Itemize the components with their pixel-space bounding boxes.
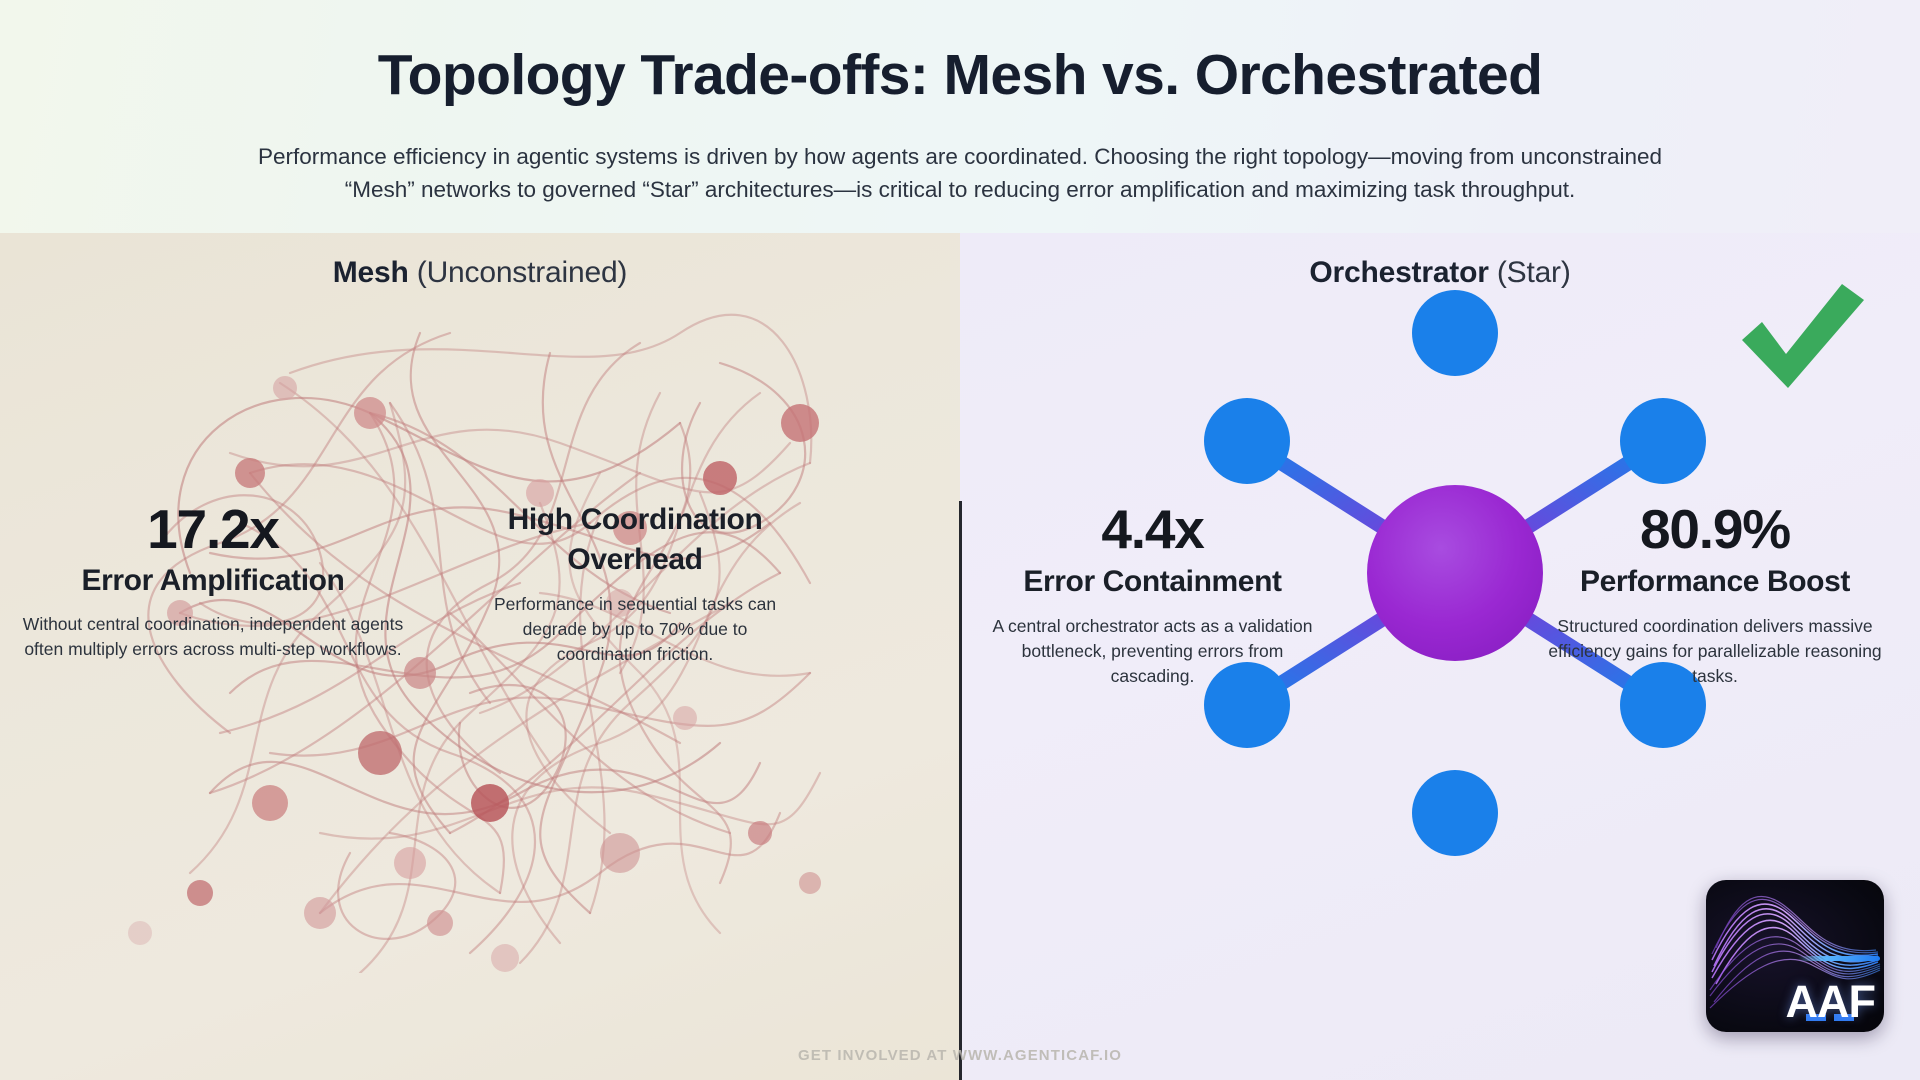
stat-label: Error Amplification <box>18 562 408 600</box>
stat-label: Error Containment <box>985 562 1320 602</box>
stat-label: High Coordination Overhead <box>485 500 785 580</box>
aaf-logo-text: AAF <box>1786 979 1875 1024</box>
stat-value: 80.9% <box>1545 498 1885 560</box>
infographic-canvas: Topology Trade-offs: Mesh vs. Orchestrat… <box>0 0 1920 1080</box>
stat-error-amplification: 17.2x Error Amplification Without centra… <box>18 498 408 662</box>
stat-coordination-overhead: High Coordination Overhead Performance i… <box>485 498 785 667</box>
stat-description: Performance in sequential tasks can degr… <box>485 592 785 667</box>
stat-label: Performance Boost <box>1545 562 1885 602</box>
comparison-panels: Mesh (Unconstrained) <box>0 233 1920 1080</box>
page-subtitle: Performance efficiency in agentic system… <box>80 140 1840 206</box>
subtitle-line-2: “Mesh” networks to governed “Star” archi… <box>80 173 1840 206</box>
stat-description: A central orchestrator acts as a validat… <box>985 614 1320 689</box>
stat-value: 4.4x <box>985 498 1320 560</box>
mesh-panel: Mesh (Unconstrained) <box>0 233 960 1080</box>
green-check-icon <box>1730 278 1870 393</box>
stat-error-containment: 4.4x Error Containment A central orchest… <box>985 498 1320 689</box>
page-title: Topology Trade-offs: Mesh vs. Orchestrat… <box>0 42 1920 108</box>
stat-value: 17.2x <box>18 498 408 560</box>
aaf-logo: AAF <box>1706 880 1884 1032</box>
panel-divider <box>959 501 962 1080</box>
stat-description: Structured coordination delivers massive… <box>1545 614 1885 689</box>
stat-performance-boost: 80.9% Performance Boost Structured coord… <box>1545 498 1885 689</box>
stat-description: Without central coordination, independen… <box>18 612 408 662</box>
subtitle-line-1: Performance efficiency in agentic system… <box>80 140 1840 173</box>
footer-cta: GET INVOLVED AT WWW.AGENTICAF.IO <box>0 1047 1920 1064</box>
header-band: Topology Trade-offs: Mesh vs. Orchestrat… <box>0 0 1920 233</box>
